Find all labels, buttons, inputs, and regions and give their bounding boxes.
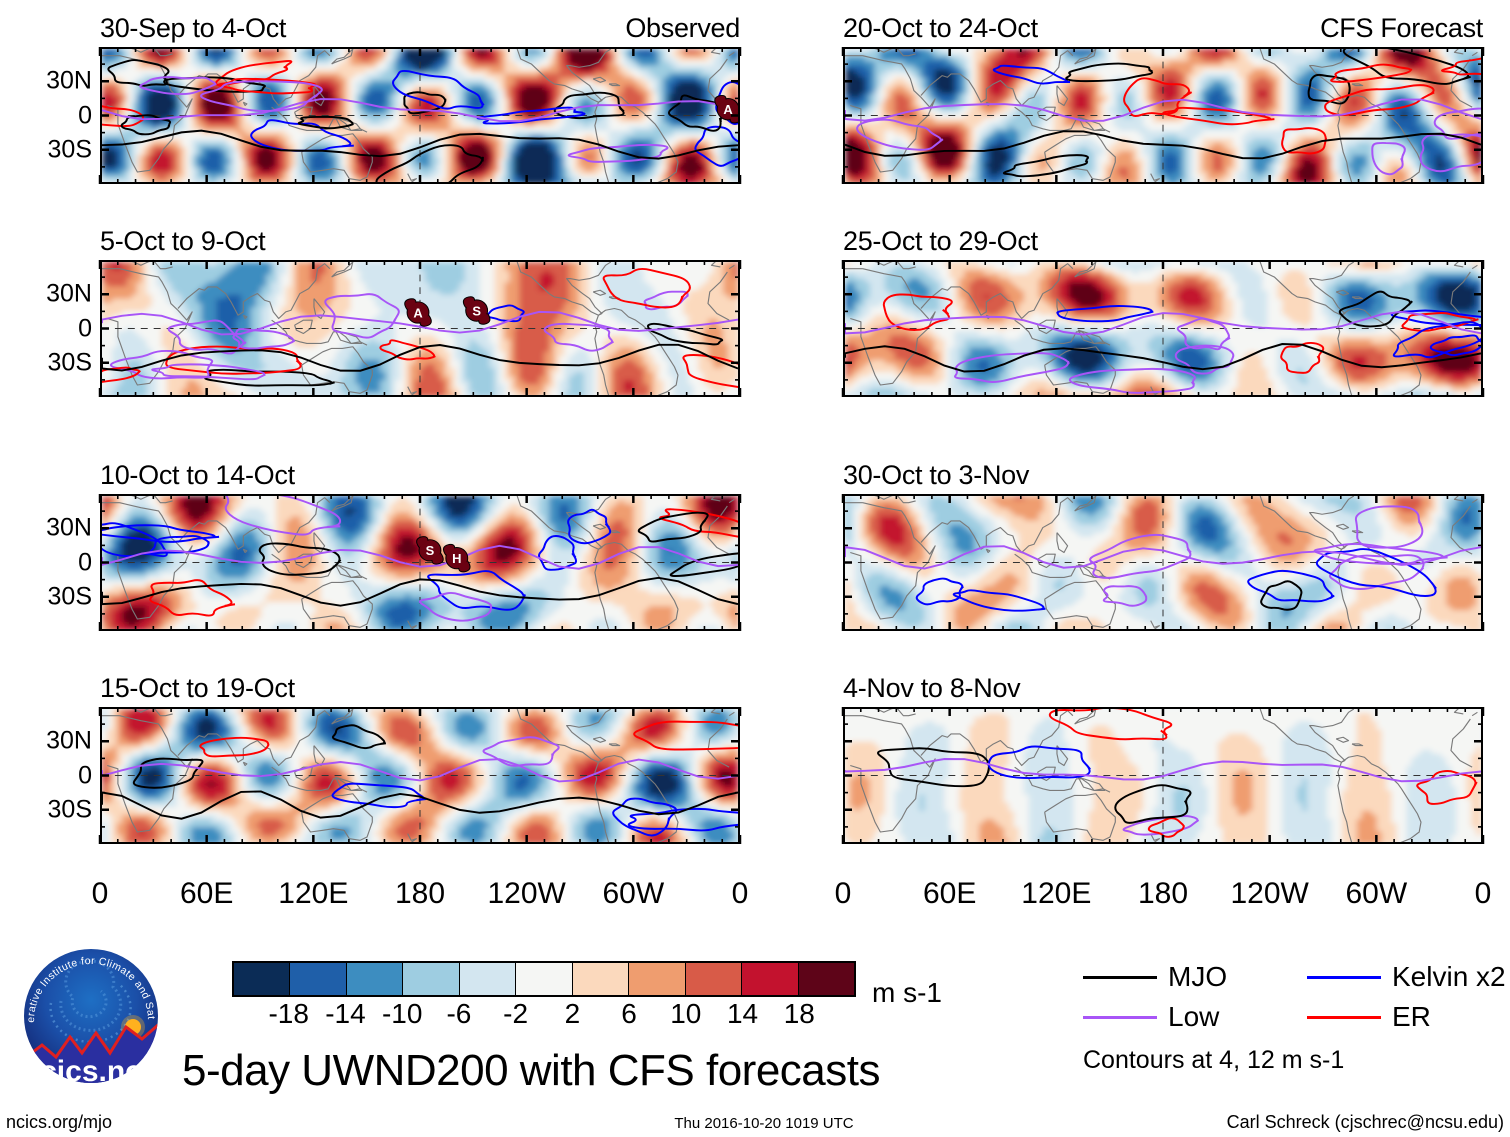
colorbar-tick--14: -14 xyxy=(325,999,365,1029)
y-tick-0: 0 xyxy=(78,316,92,341)
y-tick-30N: 30N xyxy=(46,282,92,307)
footer-left: ncics.org/mjo xyxy=(6,1112,112,1132)
x-tick-6: 0 xyxy=(732,878,749,910)
cics-logo: Cooperative Institute for Climate and Sa… xyxy=(16,941,166,1091)
figure-main-title: 5-day UWND200 with CFS forecasts xyxy=(182,1047,880,1095)
colorbar-tick--10: -10 xyxy=(382,999,422,1029)
colorbar-swatch-1 xyxy=(290,963,346,995)
panel-title: 30-Oct to 3-Nov xyxy=(843,460,1029,490)
panel-title: 5-Oct to 9-Oct xyxy=(100,226,265,256)
footer-timestamp: Thu 2016-10-20 1019 UTC xyxy=(674,1114,853,1134)
panel-title: 20-Oct to 24-Oct xyxy=(843,13,1038,43)
legend-label-er: ER xyxy=(1392,1002,1431,1032)
colorbar-swatch-7 xyxy=(629,963,685,995)
y-tick-0: 0 xyxy=(78,763,92,788)
panel-8: 4-Nov to 8-Nov xyxy=(843,707,1483,844)
y-tick-30S: 30S xyxy=(48,350,92,375)
x-tick-6: 0 xyxy=(1475,878,1492,910)
colorbar-tick--6: -6 xyxy=(446,999,471,1029)
panel-title: 30-Sep to 4-Oct xyxy=(100,13,286,43)
y-tick-30N: 30N xyxy=(46,516,92,541)
colorbar-tick-2: 2 xyxy=(565,999,581,1029)
panel-title: 15-Oct to 19-Oct xyxy=(100,673,295,703)
map-area xyxy=(843,260,1483,397)
legend-label-kelvin: Kelvin x2 xyxy=(1392,962,1506,992)
contour-legend: MJO Kelvin x2 Low ER xyxy=(1083,962,1503,1042)
x-tick-4: 120W xyxy=(1230,878,1308,910)
panel-4: 25-Oct to 29-Oct xyxy=(843,260,1483,397)
y-tick-30S: 30S xyxy=(48,137,92,162)
colorbar-tick-10: 10 xyxy=(670,999,701,1029)
colorbar-tick-6: 6 xyxy=(621,999,637,1029)
x-tick-5: 60W xyxy=(602,878,664,910)
legend-swatch-kelvin xyxy=(1307,976,1381,979)
map-area xyxy=(843,707,1483,844)
panel-1: 30-Sep to 4-OctObserved30N030S A xyxy=(100,47,740,184)
colorbar-tick-14: 14 xyxy=(727,999,758,1029)
colorbar-swatch-2 xyxy=(347,963,403,995)
colorbar-tick-18: 18 xyxy=(784,999,815,1029)
legend-item-mjo: MJO xyxy=(1083,962,1227,992)
colorbar-tick--18: -18 xyxy=(268,999,308,1029)
legend-item-kelvin: Kelvin x2 xyxy=(1307,962,1506,992)
y-tick-30N: 30N xyxy=(46,69,92,94)
y-tick-30S: 30S xyxy=(48,584,92,609)
panel-7: 15-Oct to 19-Oct30N030S xyxy=(100,707,740,844)
observed-column-header: Observed xyxy=(625,13,740,43)
footer-credit: Carl Schreck (cjschrec@ncsu.edu) xyxy=(1227,1112,1504,1132)
colorbar-swatch-0 xyxy=(234,963,290,995)
colorbar-tick--2: -2 xyxy=(503,999,528,1029)
colorbar: -18-14-10-6-226101418 xyxy=(232,961,856,997)
colorbar-swatch-3 xyxy=(403,963,459,995)
legend-label-mjo: MJO xyxy=(1168,962,1227,992)
x-tick-1: 60E xyxy=(180,878,233,910)
x-tick-1: 60E xyxy=(923,878,976,910)
panel-title: 10-Oct to 14-Oct xyxy=(100,460,295,490)
map-area xyxy=(843,47,1483,184)
y-tick-0: 0 xyxy=(78,103,92,128)
panel-5: 10-Oct to 14-Oct30N030S SH xyxy=(100,494,740,631)
legend-item-low: Low xyxy=(1083,1002,1219,1032)
x-tick-3: 180 xyxy=(395,878,445,910)
map-area xyxy=(843,494,1483,631)
x-tick-5: 60W xyxy=(1345,878,1407,910)
x-tick-2: 120E xyxy=(278,878,348,910)
colorbar-units-label: m s-1 xyxy=(872,978,942,1008)
colorbar-swatch-5 xyxy=(516,963,572,995)
colorbar-swatches xyxy=(232,961,856,997)
panel-3: 5-Oct to 9-Oct30N030S AS xyxy=(100,260,740,397)
y-tick-0: 0 xyxy=(78,550,92,575)
legend-swatch-er xyxy=(1307,1016,1381,1019)
panel-title: 4-Nov to 8-Nov xyxy=(843,673,1020,703)
x-tick-2: 120E xyxy=(1021,878,1091,910)
x-tick-0: 0 xyxy=(92,878,109,910)
map-area: A xyxy=(100,47,740,184)
map-area: SH xyxy=(100,494,740,631)
colorbar-swatch-9 xyxy=(742,963,798,995)
colorbar-tick-labels: -18-14-10-6-226101418 xyxy=(232,997,856,1031)
legend-swatch-low xyxy=(1083,1016,1157,1019)
x-tick-4: 120W xyxy=(487,878,565,910)
colorbar-swatch-6 xyxy=(573,963,629,995)
map-area: AS xyxy=(100,260,740,397)
legend-item-er: ER xyxy=(1307,1002,1431,1032)
map-area xyxy=(100,707,740,844)
y-tick-30S: 30S xyxy=(48,797,92,822)
colorbar-swatch-4 xyxy=(460,963,516,995)
y-tick-30N: 30N xyxy=(46,729,92,754)
svg-text:A: A xyxy=(723,102,732,117)
legend-swatch-mjo xyxy=(1083,976,1157,979)
figure-canvas: 30-Sep to 4-OctObserved30N030S A xyxy=(0,0,1510,1137)
panel-title: 25-Oct to 29-Oct xyxy=(843,226,1038,256)
colorbar-swatch-8 xyxy=(686,963,742,995)
panel-2: 20-Oct to 24-OctCFS Forecast xyxy=(843,47,1483,184)
panel-6: 30-Oct to 3-Nov xyxy=(843,494,1483,631)
colorbar-swatch-10 xyxy=(799,963,854,995)
logo-wordmark: cics.nc xyxy=(40,1055,142,1088)
legend-label-low: Low xyxy=(1168,1002,1219,1032)
contour-levels-note: Contours at 4, 12 m s-1 xyxy=(1083,1046,1344,1074)
x-tick-0: 0 xyxy=(835,878,852,910)
forecast-column-header: CFS Forecast xyxy=(1320,13,1483,43)
x-tick-3: 180 xyxy=(1138,878,1188,910)
